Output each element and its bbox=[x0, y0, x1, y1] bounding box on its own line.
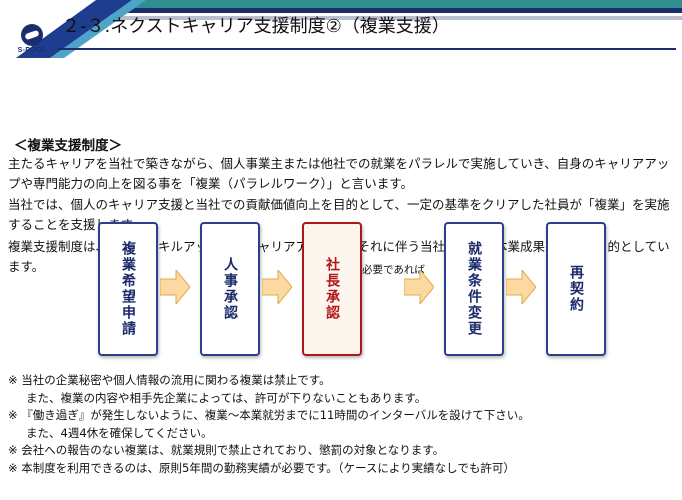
logo-text: S-POOL bbox=[18, 47, 47, 54]
flow-step-hr-approval: 人事承認 bbox=[200, 222, 260, 356]
section-title: ＜複業支援制度＞ bbox=[14, 134, 122, 154]
note-item: ※ 本制度を利用できるのは、原則5年間の勤務実績が必要です。（ケースにより実績な… bbox=[8, 460, 678, 478]
notes-list: ※ 当社の企業秘密や個人情報の流用に関わる複業は禁止です。 また、複業の内容や相… bbox=[8, 372, 678, 477]
note-item: また、4週4休を確保してください。 bbox=[8, 425, 678, 443]
flow-arrow-icon bbox=[262, 270, 292, 304]
note-item: ※ 当社の企業秘密や個人情報の流用に関わる複業は禁止です。 bbox=[8, 372, 678, 390]
flow-step-recontract: 再契約 bbox=[546, 222, 606, 356]
flow-arrow-icon bbox=[160, 270, 190, 304]
flow-step-president-approval: 社長承認 bbox=[302, 222, 362, 356]
header-underline bbox=[58, 48, 676, 50]
page-title: ２-３.ネクストキャリア支援制度②（複業支援） bbox=[62, 12, 450, 38]
note-item: ※ 会社への報告のない複業は、就業規則で禁止されており、懲罰の対象となります。 bbox=[8, 442, 678, 460]
page-header: S-POOL ２-３.ネクストキャリア支援制度②（複業支援） bbox=[0, 0, 682, 62]
flow-arrow-icon bbox=[404, 270, 434, 304]
flow-step-label: 再契約 bbox=[569, 265, 583, 313]
flow-step-label: 社長承認 bbox=[325, 257, 339, 321]
flow-step-label: 複業希望申請 bbox=[121, 241, 135, 337]
note-item: また、複業の内容や相手先企業によっては、許可が下りないこともあります。 bbox=[8, 390, 678, 408]
company-logo: S-POOL bbox=[6, 22, 58, 56]
note-item: ※ 『働き過ぎ』が発生しないように、複業～本業就労までに11時間のインターバルを… bbox=[8, 407, 678, 425]
flow-step-application: 複業希望申請 bbox=[98, 222, 158, 356]
flow-step-condition-change: 就業条件変更 bbox=[444, 222, 504, 356]
flow-arrow-icon bbox=[506, 270, 536, 304]
flow-step-label: 就業条件変更 bbox=[467, 241, 481, 337]
process-flow-diagram: 複業希望申請 人事承認 社長承認 必要であれば 就業条件変更 再契約 bbox=[0, 222, 682, 367]
paragraph-1: 主たるキャリアを当社で築きながら、個人事業主または他社での就業をパラレルで実施し… bbox=[8, 154, 674, 194]
logo-mark-icon bbox=[21, 24, 43, 46]
flow-step-label: 人事承認 bbox=[223, 257, 237, 321]
